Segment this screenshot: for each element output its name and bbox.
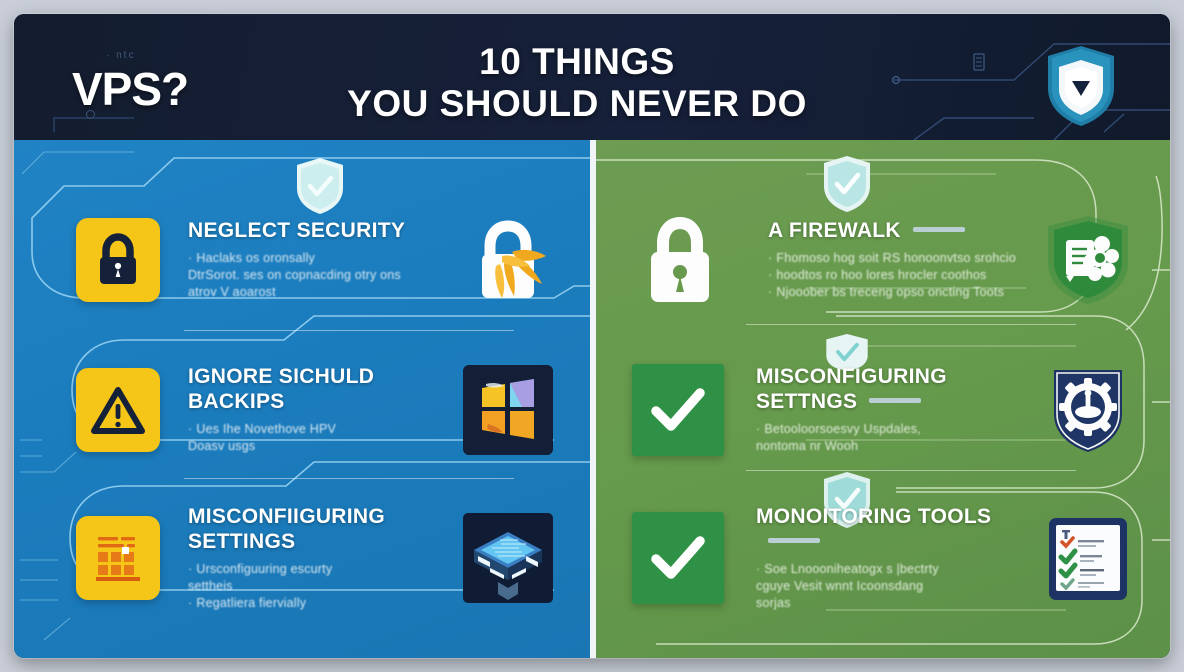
list-item-bullet: ·hoodtos ro hoo lores hrocler coothos — [768, 267, 1034, 284]
checkmark-icon — [632, 512, 724, 604]
title-rule — [768, 538, 820, 543]
item-bullets: ·Betooloorsoesvy Uspdales, nontoma nr Wo… — [756, 421, 1034, 455]
title-rule — [869, 398, 921, 403]
item-text-block: MISCONFIGURING SETTNGS ·Betooloorsoesvy … — [724, 364, 1040, 455]
page-title-line2: YOU SHOULD NEVER DO — [257, 82, 897, 126]
item-text-block: MONOITORING TOOLS ·Soe Lnoooniheatogx s … — [724, 504, 1040, 612]
bullet-text: Ues Ihe Novethove HPV Doasv usgs — [188, 422, 336, 453]
list-item[interactable]: MONOITORING TOOLS ·Soe Lnoooniheatogx s … — [596, 480, 1170, 635]
list-item[interactable]: IGNORE SICHULD BACKIPS ·Ues Ihe Novethov… — [14, 332, 590, 487]
checkmark-icon — [632, 364, 724, 456]
security-shield-icon — [1044, 44, 1118, 128]
list-item-bullet: ·Soe Lnoooniheatogx s |bectrty cguye Ves… — [756, 561, 1034, 612]
header-left-text: VPS? — [72, 62, 188, 116]
item-text-block: IGNORE SICHULD BACKIPS ·Ues Ihe Novethov… — [160, 364, 460, 455]
right-panel-do: A FIREWALK ·Fhomoso hog soit RS honoonvt… — [596, 140, 1170, 658]
row-divider — [746, 324, 1076, 325]
list-item[interactable]: MISCONFIIGURING SETTINGS ·Ursconfiguurin… — [14, 480, 590, 635]
page-title: 10 THINGS YOU SHOULD NEVER DO — [257, 42, 897, 126]
item-title-text: A FIREWALK — [768, 219, 901, 242]
item-title: MISCONFIGURING SETTNGS — [756, 364, 1034, 414]
poster-header: · ntc VPS? 10 THINGS YOU SHOULD NEVER DO — [14, 14, 1170, 140]
header-deco-text: · ntc — [106, 50, 135, 61]
row-divider — [746, 470, 1076, 471]
bullet-text: Regatliera fiervially — [196, 596, 306, 610]
checklist-tablet-icon — [1040, 510, 1136, 606]
page-title-line1: 10 THINGS — [257, 42, 897, 82]
item-title-text: MONOITORING TOOLS — [756, 505, 991, 528]
list-item-bullet: ·Betooloorsoesvy Uspdales, nontoma nr Wo… — [756, 421, 1034, 455]
bullet-text: Njooober bs treceng opso oncting Toots — [776, 285, 1004, 299]
item-text-block: MISCONFIIGURING SETTINGS ·Ursconfiguurin… — [160, 504, 460, 612]
left-panel-avoid: NEGLECT SECURITY ·Haclaks os oronsally D… — [14, 140, 590, 658]
item-title: MISCONFIIGURING SETTINGS — [188, 504, 454, 554]
item-title: MONOITORING TOOLS — [756, 504, 1034, 554]
list-item-bullet: ·Ues Ihe Novethove HPV Doasv usgs — [188, 421, 454, 455]
item-bullets: ·Soe Lnoooniheatogx s |bectrty cguye Ves… — [756, 561, 1034, 612]
item-title: A FIREWALK — [768, 218, 1034, 243]
list-item-bullet: ·Njooober bs treceng opso oncting Toots — [768, 284, 1034, 301]
bullet-text: Betooloorsoesvy Uspdales, nontoma nr Woo… — [756, 422, 921, 453]
list-item[interactable]: A FIREWALK ·Fhomoso hog soit RS honoonvt… — [596, 182, 1170, 337]
list-item-bullet: ·Ursconfiguuring escurty settheis — [188, 561, 454, 595]
list-item[interactable]: NEGLECT SECURITY ·Haclaks os oronsally D… — [14, 182, 590, 337]
item-bullets: ·Fhomoso hog soit RS honoonvtso srohcio … — [768, 250, 1034, 301]
item-bullets: ·Ues Ihe Novethove HPV Doasv usgs — [188, 421, 454, 455]
panels-container: NEGLECT SECURITY ·Haclaks os oronsally D… — [14, 140, 1170, 658]
server-rack-icon — [76, 516, 160, 600]
list-item-bullet: ·Haclaks os oronsally DtrSorot. ses on c… — [188, 250, 454, 301]
bullet-text: Ursconfiguuring escurty settheis — [188, 562, 332, 593]
item-title: IGNORE SICHULD BACKIPS — [188, 364, 454, 414]
bullet-text: Fhomoso hog soit RS honoonvtso srohcio — [776, 251, 1016, 265]
item-bullets: ·Haclaks os oronsally DtrSorot. ses on c… — [188, 250, 454, 301]
item-bullets: ·Ursconfiguuring escurty settheis ·Regat… — [188, 561, 454, 612]
bullet-text: Haclaks os oronsally DtrSorot. ses on co… — [188, 251, 401, 299]
item-title: NEGLECT SECURITY — [188, 218, 454, 243]
title-rule — [913, 227, 965, 232]
bullet-text: hoodtos ro hoo lores hrocler coothos — [776, 268, 986, 282]
document-gear-shield-icon — [1040, 212, 1136, 308]
padlock-white-icon — [636, 212, 732, 308]
list-item-bullet: ·Fhomoso hog soit RS honoonvtso srohcio — [768, 250, 1034, 267]
item-title-text: MISCONFIGURING SETTNGS — [756, 365, 947, 413]
list-item[interactable]: MISCONFIGURING SETTNGS ·Betooloorsoesvy … — [596, 332, 1170, 487]
padlock-with-keys-icon — [460, 212, 556, 308]
item-text-block: A FIREWALK ·Fhomoso hog soit RS honoonvt… — [732, 218, 1040, 301]
bullet-text: Soe Lnoooniheatogx s |bectrty cguye Vesi… — [756, 562, 939, 610]
windows-logo-icon — [460, 362, 556, 458]
padlock-icon — [76, 218, 160, 302]
list-item-bullet: ·Regatliera fiervially — [188, 595, 454, 612]
item-text-block: NEGLECT SECURITY ·Haclaks os oronsally D… — [160, 218, 460, 301]
infographic-canvas: · ntc VPS? 10 THINGS YOU SHOULD NEVER DO — [0, 0, 1184, 672]
poster-frame: · ntc VPS? 10 THINGS YOU SHOULD NEVER DO — [14, 14, 1170, 658]
warning-triangle-icon — [76, 368, 160, 452]
server-chip-icon — [460, 510, 556, 606]
gear-shield-icon — [1040, 362, 1136, 458]
